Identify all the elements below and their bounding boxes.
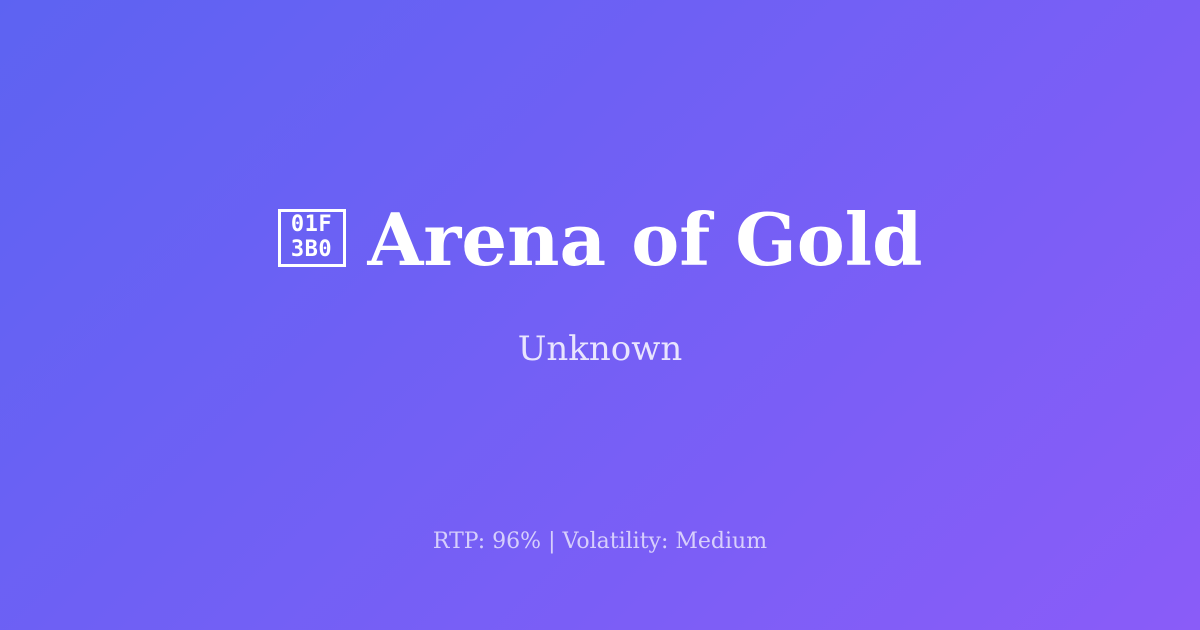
codepoint-upper: 01F (291, 213, 332, 238)
game-title: Arena of Gold (368, 204, 923, 276)
codepoint-lower: 3B0 (291, 238, 332, 263)
game-meta-line: RTP: 96% | Volatility: Medium (0, 529, 1200, 555)
game-preview-card: 01F 3B0 Arena of Gold Unknown RTP: 96% |… (0, 0, 1200, 630)
headline: 01F 3B0 Arena of Gold (278, 204, 923, 276)
slot-machine-icon: 01F 3B0 (278, 209, 346, 267)
game-provider: Unknown (518, 332, 683, 366)
